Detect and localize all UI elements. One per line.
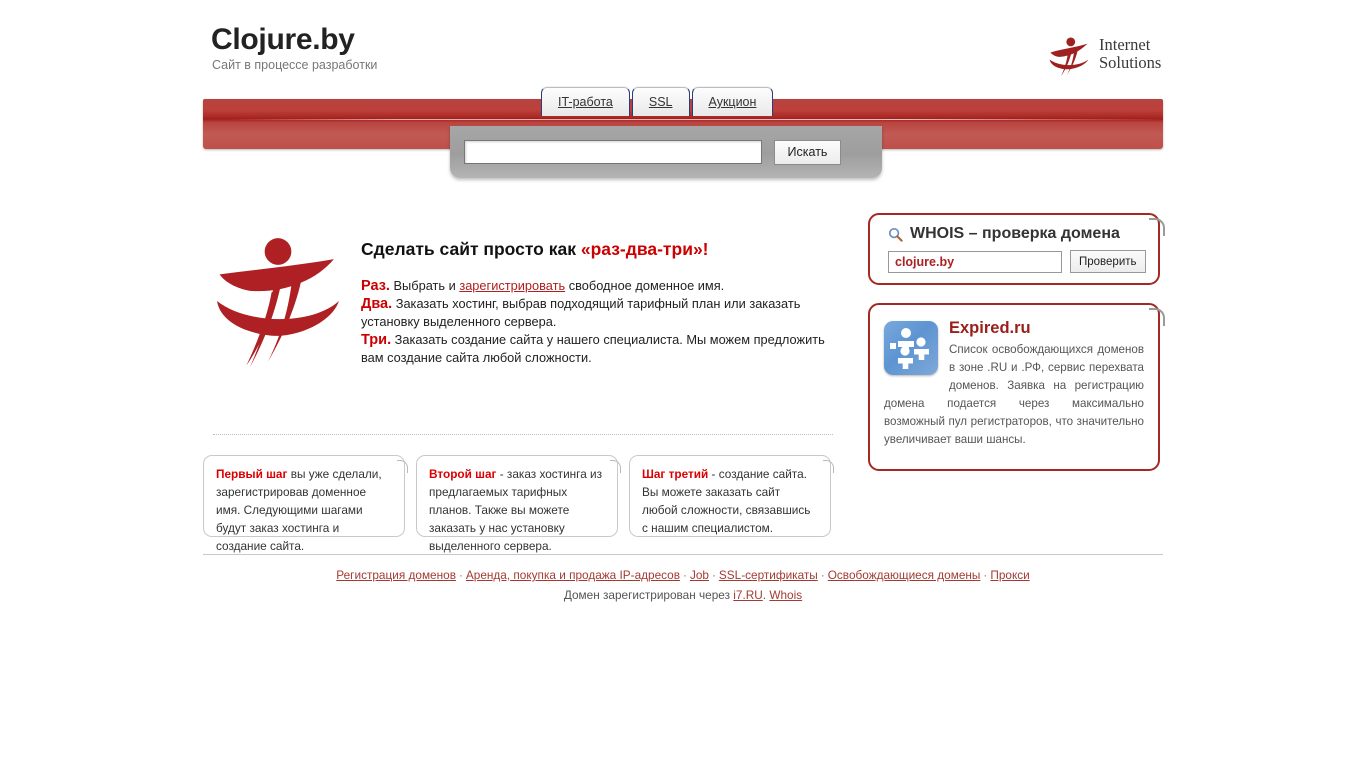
hero-heading: Сделать сайт просто как «раз-два-три»! [361, 239, 709, 260]
search-button[interactable]: Искать [774, 140, 841, 165]
people-group-glyph [884, 321, 938, 375]
step-cards: Первый шаг вы уже сделали, зарегистриров… [203, 455, 831, 537]
footer-separator-2: · [683, 568, 687, 582]
footer-links: Регистрация доменов·Аренда, покупка и пр… [0, 568, 1366, 582]
site-tagline: Сайт в процессе разработки [212, 58, 377, 72]
whois-form: Проверить [888, 250, 1140, 273]
tab-ssl[interactable]: SSL [632, 87, 690, 116]
brand-line-2: Solutions [1099, 54, 1161, 72]
site-title: Clojure.by [211, 23, 355, 57]
search-panel: Искать [450, 126, 882, 178]
step-card-first-lead: Первый шаг [216, 467, 287, 481]
hero-step-3-num: Три. [361, 332, 391, 348]
hero-step-1-before: Выбрать и [390, 278, 459, 293]
footer-separator-1: · [459, 568, 463, 582]
nav-tabs: IT-работа SSL Аукцион [541, 87, 773, 116]
hero-step-1: Раз. Выбрать и зарегистрировать свободно… [361, 277, 835, 295]
hero-step-2-text: Заказать хостинг, выбрав подходящий тари… [361, 296, 800, 329]
footer-link-proxy[interactable]: Прокси [990, 568, 1029, 582]
tab-it-rabota[interactable]: IT-работа [541, 87, 630, 116]
magnifier-icon [888, 227, 903, 242]
page-root: Clojure.by Сайт в процессе разработки In… [0, 0, 1366, 768]
footer-note: Домен зарегистрирован через i7.RU. Whois [0, 588, 1366, 602]
whois-widget: WHOIS – проверка домена Проверить [868, 213, 1160, 285]
whois-title-text: WHOIS – проверка домена [910, 225, 1120, 243]
hero-step-1-after: свободное доменное имя. [565, 278, 724, 293]
expired-widget: Expired.ru Список освобождающихся домено… [868, 303, 1160, 471]
footer-separator-4: · [821, 568, 825, 582]
runner-figure-logo-icon [1047, 34, 1091, 78]
runner-figure-logo-large-icon [213, 235, 343, 381]
footer-separator-3: · [712, 568, 716, 582]
register-domain-link[interactable]: зарегистрировать [459, 278, 565, 293]
brand-logo: Internet Solutions [1047, 32, 1165, 80]
step-card-second-lead: Второй шаг [429, 467, 496, 481]
footer-link-whois[interactable]: Whois [769, 588, 802, 602]
footer-link-expiring-domains[interactable]: Освобождающиеся домены [828, 568, 981, 582]
step-card-first: Первый шаг вы уже сделали, зарегистриров… [203, 455, 405, 537]
people-group-icon [884, 321, 938, 375]
brand-text: Internet Solutions [1099, 36, 1161, 72]
step-card-third: Шаг третий - создание сайта. Вы можете з… [629, 455, 831, 537]
footer-note-prefix: Домен зарегистрирован через [564, 588, 733, 602]
footer-divider [203, 554, 1163, 555]
step-card-second: Второй шаг - заказ хостинга из предлагае… [416, 455, 618, 537]
banner-gloss-line [227, 119, 1163, 120]
footer-link-job[interactable]: Job [690, 568, 709, 582]
dotted-divider [213, 434, 833, 435]
hero-step-3-text: Заказать создание сайта у нашего специал… [361, 332, 825, 365]
whois-domain-input[interactable] [888, 251, 1062, 273]
footer-link-domain-registration[interactable]: Регистрация доменов [336, 568, 456, 582]
hero-steps: Раз. Выбрать и зарегистрировать свободно… [361, 277, 835, 367]
hero-heading-accent: «раз-два-три»! [581, 239, 709, 259]
step-card-third-lead: Шаг третий [642, 467, 708, 481]
brand-line-1: Internet [1099, 36, 1161, 54]
hero-step-3: Три. Заказать создание сайта у нашего сп… [361, 331, 835, 367]
footer-link-ip-addresses[interactable]: Аренда, покупка и продажа IP-адресов [466, 568, 680, 582]
footer-separator-5: · [983, 568, 987, 582]
hero-step-2-num: Два. [361, 296, 392, 312]
hero-step-1-num: Раз. [361, 278, 390, 294]
tab-auction[interactable]: Аукцион [692, 87, 774, 116]
search-input[interactable] [464, 140, 762, 164]
hero-step-2: Два. Заказать хостинг, выбрав подходящий… [361, 295, 835, 331]
footer-link-i7ru[interactable]: i7.RU [733, 588, 763, 602]
hero-heading-plain: Сделать сайт просто как [361, 239, 581, 259]
whois-title-row: WHOIS – проверка домена [888, 225, 1140, 243]
footer-link-ssl-certificates[interactable]: SSL-сертификаты [719, 568, 818, 582]
whois-check-button[interactable]: Проверить [1070, 250, 1146, 273]
